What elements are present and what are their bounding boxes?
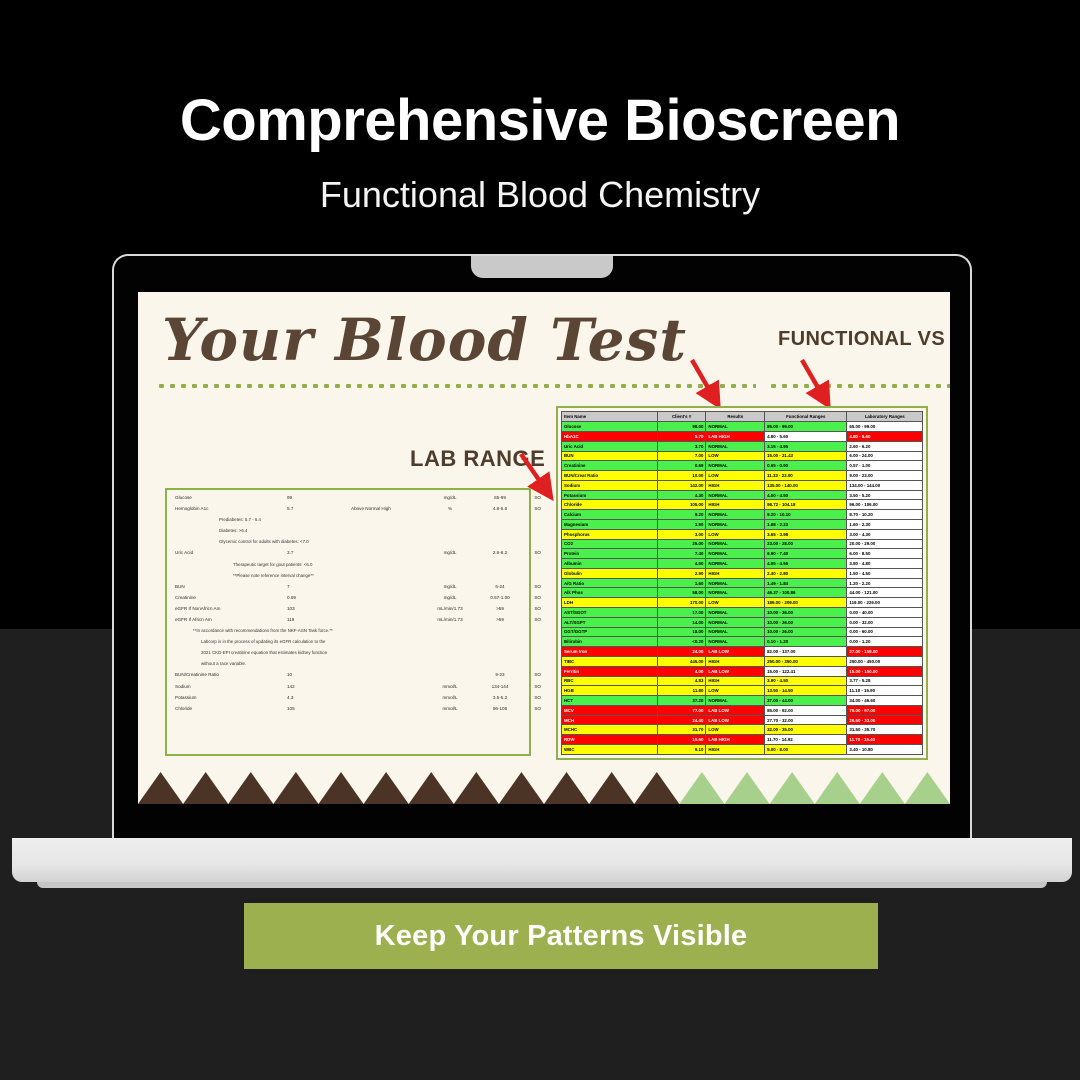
- table-cell: NORMAL: [706, 510, 765, 520]
- table-cell: 3.15 - 4.95: [765, 441, 847, 451]
- table-cell: 0.00 - 1.20: [847, 637, 923, 647]
- table-header-row: Item NameClient's #ResultsFunctional Ran…: [562, 412, 923, 422]
- report-cell: BUN: [175, 585, 287, 590]
- table-cell: 4.80 - 5.60: [765, 431, 847, 441]
- column-header-c-val: Client's #: [657, 412, 706, 422]
- table-cell: Uric Acid: [562, 441, 658, 451]
- report-row: Hemoglobin A1c5.7Above Normal High%4.8-5…: [175, 507, 521, 512]
- laptop-mockup: Your Blood Test FUNCTIONAL VS LAB RAN LA…: [112, 254, 972, 838]
- table-cell: 17.00: [657, 608, 706, 618]
- report-cell: 134-144: [477, 685, 523, 690]
- report-row: eGFR If NonAfricn Am103mL/min/1.73>59SO: [175, 607, 521, 612]
- table-cell: 445.00: [657, 656, 706, 666]
- table-cell: Protein: [562, 549, 658, 559]
- report-cell: SO: [523, 496, 541, 501]
- table-cell: 0.00 - 40.00: [847, 608, 923, 618]
- table-cell: Potassium: [562, 490, 658, 500]
- table-cell: 0.10 - 1.20: [765, 637, 847, 647]
- table-cell: NORMAL: [706, 520, 765, 530]
- table-cell: 32.00 - 35.00: [765, 725, 847, 735]
- table-cell: 0.00 - 60.00: [847, 627, 923, 637]
- report-cell: SO: [523, 585, 541, 590]
- report-row: Chloride105mmol/L96-106SO: [175, 707, 521, 712]
- table-cell: 7.40: [657, 549, 706, 559]
- report-cell: 0.57-1.00: [477, 596, 523, 601]
- table-cell: Sodium: [562, 480, 658, 490]
- table-row: MCHC31.70LOW32.00 - 35.0031.50 - 35.70: [562, 725, 923, 735]
- table-cell: 18.00: [657, 627, 706, 637]
- table-cell: 98.72 - 104.18: [765, 500, 847, 510]
- table-cell: TIBC: [562, 656, 658, 666]
- report-cell: %: [423, 507, 477, 512]
- table-cell: 3.70: [657, 441, 706, 451]
- table-cell: LOW: [706, 471, 765, 481]
- table-cell: 1.60 - 2.30: [847, 520, 923, 530]
- table-cell: 37.20: [657, 696, 706, 706]
- table-row: HbA1C5.70LAB HIGH4.80 - 5.604.80 - 5.60: [562, 431, 923, 441]
- table-cell: NORMAL: [706, 627, 765, 637]
- report-cell: Sodium: [175, 685, 287, 690]
- table-cell: 11.80: [657, 686, 706, 696]
- table-cell: NORMAL: [706, 422, 765, 432]
- table-cell: HIGH: [706, 500, 765, 510]
- table-cell: Globulin: [562, 568, 658, 578]
- table-row: Albumin4.50NORMAL4.05 - 4.553.80 - 4.80: [562, 559, 923, 569]
- report-cell: mg/dL: [423, 585, 477, 590]
- table-cell: 4.30: [657, 490, 706, 500]
- functional-ranges-table: Item NameClient's #ResultsFunctional Ran…: [561, 411, 923, 755]
- report-cell: 9-23: [477, 673, 523, 678]
- laptop-screen: Your Blood Test FUNCTIONAL VS LAB RAN LA…: [138, 292, 950, 804]
- table-cell: 3.80 - 4.80: [847, 559, 923, 569]
- report-row: Sodium142mmol/L134-144SO: [175, 685, 521, 690]
- report-cell: SO: [523, 607, 541, 612]
- table-cell: RDW: [562, 735, 658, 745]
- table-cell: 3.40 - 10.80: [847, 744, 923, 754]
- report-cell: 105: [287, 707, 351, 712]
- slide-script-title: Your Blood Test: [162, 298, 682, 382]
- table-row: Glucose98.00NORMAL85.00 - 99.0065.00 - 9…: [562, 422, 923, 432]
- table-cell: NORMAL: [706, 490, 765, 500]
- cta-banner[interactable]: Keep Your Patterns Visible: [244, 903, 878, 969]
- report-cell: 99: [287, 496, 351, 501]
- table-row: RDW15.60LAB HIGH11.70 - 14.9211.70 - 15.…: [562, 735, 923, 745]
- report-row: Potassium4.3mmol/L3.5-5.2SO: [175, 696, 521, 701]
- table-row: Sodium142.00HIGH135.00 - 140.00134.00 - …: [562, 480, 923, 490]
- table-row: MCV77.00LAB LOW85.00 - 92.0079.00 - 97.0…: [562, 705, 923, 715]
- table-cell: Alk Phos: [562, 588, 658, 598]
- report-cell: 119: [287, 618, 351, 623]
- table-row: Potassium4.30NORMAL4.00 - 4.503.50 - 5.2…: [562, 490, 923, 500]
- table-cell: 1.50 - 4.50: [847, 568, 923, 578]
- table-cell: 27.00 - 159.00: [847, 647, 923, 657]
- table-cell: A/G Ratio: [562, 578, 658, 588]
- report-row: Glucose99mg/dL65-99SO: [175, 496, 521, 501]
- table-cell: 105.00: [657, 500, 706, 510]
- table-cell: 79.00 - 97.00: [847, 705, 923, 715]
- cta-label: Keep Your Patterns Visible: [375, 920, 748, 953]
- report-note: Glycemic control for adults with diabete…: [175, 540, 521, 544]
- table-cell: LOW: [706, 686, 765, 696]
- table-cell: 2.40 - 2.80: [765, 568, 847, 578]
- table-cell: 142.00: [657, 480, 706, 490]
- table-cell: 3.90 - 4.50: [765, 676, 847, 686]
- table-cell: MCH: [562, 715, 658, 725]
- column-header-c-fr: Functional Ranges: [765, 412, 847, 422]
- report-note: 2021 CKD-EPI creatinine equation that es…: [175, 651, 521, 655]
- table-cell: 170.00: [657, 598, 706, 608]
- functional-ranges-table-panel: Item NameClient's #ResultsFunctional Ran…: [556, 406, 928, 760]
- report-cell: Creatinine: [175, 596, 287, 601]
- table-cell: 3.77 - 5.28: [847, 676, 923, 686]
- page-title: Comprehensive Bioscreen: [0, 92, 1080, 150]
- table-cell: RBC: [562, 676, 658, 686]
- table-cell: 10.00 - 26.00: [765, 627, 847, 637]
- report-cell: mg/dL: [423, 551, 477, 556]
- table-cell: LAB LOW: [706, 715, 765, 725]
- report-cell: 3.5-5.2: [477, 696, 523, 701]
- report-row: Creatinine0.69mg/dL0.57-1.00SO: [175, 596, 521, 601]
- table-cell: 1.90: [657, 520, 706, 530]
- table-cell: LAB HIGH: [706, 735, 765, 745]
- arrow-laboratory-ranges-icon: [798, 356, 838, 410]
- table-cell: 5.00 - 8.00: [765, 744, 847, 754]
- table-cell: 4.50: [657, 559, 706, 569]
- table-row: MCH24.40LAB LOW27.70 - 32.0026.60 - 33.0…: [562, 715, 923, 725]
- table-cell: 96.00 - 106.00: [847, 500, 923, 510]
- table-cell: 23.00 - 28.00: [765, 539, 847, 549]
- table-row: AST/SGOT17.00NORMAL10.00 - 26.000.00 - 4…: [562, 608, 923, 618]
- report-note: without a race variable.: [175, 662, 521, 666]
- table-cell: MCV: [562, 705, 658, 715]
- report-cell: mg/dL: [423, 596, 477, 601]
- report-cell: SO: [523, 696, 541, 701]
- table-row: Bilirubin<0.20NORMAL0.10 - 1.200.00 - 1.…: [562, 637, 923, 647]
- table-cell: NORMAL: [706, 617, 765, 627]
- table-cell: NORMAL: [706, 461, 765, 471]
- table-row: HGB11.80LOW13.50 - 14.5011.10 - 15.90: [562, 686, 923, 696]
- report-cell: mL/min/1.73: [423, 607, 477, 612]
- table-row: Protein7.40NORMAL6.90 - 7.406.00 - 8.50: [562, 549, 923, 559]
- table-cell: 25.00: [657, 539, 706, 549]
- table-cell: 98.00: [657, 422, 706, 432]
- table-cell: HIGH: [706, 568, 765, 578]
- table-cell: NORMAL: [706, 588, 765, 598]
- table-cell: LAB LOW: [706, 647, 765, 657]
- table-cell: 15.00 - 122.41: [765, 666, 847, 676]
- table-cell: Chloride: [562, 500, 658, 510]
- report-cell: 2.6-6.2: [477, 551, 523, 556]
- table-cell: 135.00 - 140.00: [765, 480, 847, 490]
- report-cell: 65-99: [477, 496, 523, 501]
- table-cell: 4.83: [657, 676, 706, 686]
- table-cell: 31.50 - 35.70: [847, 725, 923, 735]
- table-cell: HIGH: [706, 656, 765, 666]
- report-cell: mg/dL: [423, 496, 477, 501]
- table-cell: HbA1C: [562, 431, 658, 441]
- report-cell: Above Normal High: [351, 507, 423, 512]
- table-cell: 0.00 - 32.00: [847, 617, 923, 627]
- report-cell: Chloride: [175, 707, 287, 712]
- table-cell: 9.10: [657, 744, 706, 754]
- table-cell: LAB LOW: [706, 666, 765, 676]
- table-cell: HCT: [562, 696, 658, 706]
- laptop-base: [12, 838, 1072, 882]
- table-cell: 44.00 - 121.00: [847, 588, 923, 598]
- table-cell: NORMAL: [706, 608, 765, 618]
- table-cell: 3.00 - 4.30: [847, 529, 923, 539]
- table-cell: LOW: [706, 725, 765, 735]
- zigzag-decoration: [138, 770, 950, 804]
- table-cell: 20.00 - 29.00: [847, 539, 923, 549]
- report-row: Uric Acid3.7mg/dL2.6-6.2SO: [175, 551, 521, 556]
- report-row: eGFR If Africn Am119mL/min/1.73>59SO: [175, 618, 521, 623]
- table-cell: 1.60: [657, 578, 706, 588]
- table-cell: 24.00: [657, 647, 706, 657]
- table-cell: NORMAL: [706, 578, 765, 588]
- table-cell: 85.00 - 99.00: [765, 422, 847, 432]
- table-cell: 24.40: [657, 715, 706, 725]
- report-cell: SO: [523, 596, 541, 601]
- table-cell: 3.00: [657, 529, 706, 539]
- table-cell: GGT/GGTP: [562, 627, 658, 637]
- table-cell: HGB: [562, 686, 658, 696]
- table-cell: 9.20: [657, 510, 706, 520]
- table-cell: 11.70 - 14.92: [765, 735, 847, 745]
- column-header-c-name: Item Name: [562, 412, 658, 422]
- table-cell: 9.00 - 23.00: [847, 471, 923, 481]
- table-cell: Phosphorus: [562, 529, 658, 539]
- report-cell: SO: [523, 507, 541, 512]
- table-cell: 10.00 - 26.00: [765, 608, 847, 618]
- table-cell: 9.20 - 10.10: [765, 510, 847, 520]
- table-cell: LAB LOW: [706, 705, 765, 715]
- report-cell: 5.7: [287, 507, 351, 512]
- table-cell: 4.00: [657, 666, 706, 676]
- table-cell: <0.20: [657, 637, 706, 647]
- report-cell: eGFR If NonAfricn Am: [175, 607, 287, 612]
- table-cell: 11.33 - 23.00: [765, 471, 847, 481]
- table-cell: 13.50 - 14.50: [765, 686, 847, 696]
- table-cell: 4.80 - 5.60: [847, 431, 923, 441]
- table-row: Uric Acid3.70NORMAL3.15 - 4.952.60 - 6.2…: [562, 441, 923, 451]
- report-note: Labcorp is in the process of updating it…: [175, 640, 521, 644]
- report-cell: 10: [287, 673, 351, 678]
- table-cell: AST/SGOT: [562, 608, 658, 618]
- table-cell: HIGH: [706, 480, 765, 490]
- report-cell: SO: [523, 707, 541, 712]
- table-body: Glucose98.00NORMAL85.00 - 99.0065.00 - 9…: [562, 422, 923, 755]
- report-cell: mmol/L: [423, 707, 477, 712]
- report-cell: 7: [287, 585, 351, 590]
- table-row: Serum Iron24.00LAB LOW82.00 - 137.0027.0…: [562, 647, 923, 657]
- table-row: TIBC445.00HIGH250.00 - 350.00250.00 - 45…: [562, 656, 923, 666]
- table-cell: 250.00 - 450.00: [847, 656, 923, 666]
- arrow-functional-ranges-icon: [688, 356, 728, 410]
- report-cell: Uric Acid: [175, 551, 287, 556]
- table-cell: HIGH: [706, 744, 765, 754]
- table-cell: 14.00: [657, 617, 706, 627]
- table-row: HCT37.20NORMAL37.00 - 44.0034.00 - 46.60: [562, 696, 923, 706]
- report-note: Therapeutic target for gout patients: <6…: [175, 563, 521, 567]
- table-cell: 0.69: [657, 461, 706, 471]
- table-cell: Albumin: [562, 559, 658, 569]
- table-cell: 250.00 - 350.00: [765, 656, 847, 666]
- table-cell: 3.50 - 5.20: [847, 490, 923, 500]
- report-note: Diabetes: >6.4: [175, 529, 521, 533]
- table-cell: Calcium: [562, 510, 658, 520]
- report-cell: eGFR If Africn Am: [175, 618, 287, 623]
- dotted-divider-right: [768, 384, 950, 388]
- table-cell: Bilirubin: [562, 637, 658, 647]
- report-row: BUN7mg/dL6-24SO: [175, 585, 521, 590]
- report-cell: 6-24: [477, 585, 523, 590]
- table-cell: NORMAL: [706, 696, 765, 706]
- table-cell: 85.00 - 92.00: [765, 705, 847, 715]
- table-cell: 5.70: [657, 431, 706, 441]
- report-cell: SO: [523, 551, 541, 556]
- table-cell: 4.00 - 4.50: [765, 490, 847, 500]
- table-cell: 1.49 - 1.84: [765, 578, 847, 588]
- page-subtitle: Functional Blood Chemistry: [0, 174, 1080, 216]
- table-cell: 119.00 - 226.00: [847, 598, 923, 608]
- report-cell: 4.8-5.6: [477, 507, 523, 512]
- table-cell: ALT/SGPT: [562, 617, 658, 627]
- table-cell: NORMAL: [706, 441, 765, 451]
- table-cell: 1.20 - 2.20: [847, 578, 923, 588]
- table-cell: 10.00: [657, 471, 706, 481]
- report-cell: Hemoglobin A1c: [175, 507, 287, 512]
- table-cell: Ferritin: [562, 666, 658, 676]
- column-header-c-res: Results: [706, 412, 765, 422]
- table-row: Creatinine0.69NORMAL0.65 - 0.900.57 - 1.…: [562, 461, 923, 471]
- table-cell: 7.00: [657, 451, 706, 461]
- dotted-divider-left: [156, 384, 756, 388]
- table-cell: WBC: [562, 744, 658, 754]
- table-cell: CO2: [562, 539, 658, 549]
- table-cell: Glucose: [562, 422, 658, 432]
- table-cell: 15.60: [657, 735, 706, 745]
- table-cell: NORMAL: [706, 549, 765, 559]
- table-cell: Magnesium: [562, 520, 658, 530]
- table-row: BUN7.00LOW15.00 - 21.436.00 - 24.00: [562, 451, 923, 461]
- table-cell: LOW: [706, 529, 765, 539]
- table-cell: 34.00 - 46.60: [847, 696, 923, 706]
- report-cell: SO: [523, 685, 541, 690]
- report-cell: 142: [287, 685, 351, 690]
- table-row: Alk Phos58.00NORMAL46.37 - 100.8644.00 -…: [562, 588, 923, 598]
- table-row: BUN/Creat Ratio10.00LOW11.33 - 23.009.00…: [562, 471, 923, 481]
- report-cell: 0.69: [287, 596, 351, 601]
- table-cell: 27.70 - 32.00: [765, 715, 847, 725]
- report-cell: 103: [287, 607, 351, 612]
- table-cell: MCHC: [562, 725, 658, 735]
- table-cell: 2.90: [657, 568, 706, 578]
- table-row: Calcium9.20NORMAL9.20 - 10.108.70 - 10.2…: [562, 510, 923, 520]
- table-row: LDH170.00LOW189.00 - 209.00119.00 - 226.…: [562, 598, 923, 608]
- laptop-notch: [471, 256, 613, 278]
- table-cell: BUN/Creat Ratio: [562, 471, 658, 481]
- report-cell: mL/min/1.73: [423, 618, 477, 623]
- table-row: Magnesium1.90NORMAL1.88 - 2.231.60 - 2.3…: [562, 520, 923, 530]
- table-row: Globulin2.90HIGH2.40 - 2.801.50 - 4.50: [562, 568, 923, 578]
- report-cell: mmol/L: [423, 696, 477, 701]
- table-cell: 6.90 - 7.40: [765, 549, 847, 559]
- table-row: Ferritin4.00LAB LOW15.00 - 122.4115.00 -…: [562, 666, 923, 676]
- header: Comprehensive Bioscreen Functional Blood…: [0, 92, 1080, 216]
- table-cell: LOW: [706, 598, 765, 608]
- table-cell: 0.57 - 1.00: [847, 461, 923, 471]
- report-cell: 3.7: [287, 551, 351, 556]
- table-cell: 11.10 - 15.90: [847, 686, 923, 696]
- table-cell: NORMAL: [706, 559, 765, 569]
- table-cell: 11.70 - 15.40: [847, 735, 923, 745]
- table-row: WBC9.10HIGH5.00 - 8.003.40 - 10.80: [562, 744, 923, 754]
- table-row: GGT/GGTP18.00NORMAL10.00 - 26.000.00 - 6…: [562, 627, 923, 637]
- lab-report-panel: Glucose99mg/dL65-99SOHemoglobin A1c5.7Ab…: [165, 488, 531, 756]
- table-cell: NORMAL: [706, 637, 765, 647]
- report-note: **In accordance with recommendations fro…: [175, 629, 521, 633]
- table-cell: NORMAL: [706, 539, 765, 549]
- table-cell: Creatinine: [562, 461, 658, 471]
- report-cell: SO: [523, 673, 541, 678]
- laptop-foot: [37, 882, 1047, 888]
- table-row: ALT/SGPT14.00NORMAL10.00 - 26.000.00 - 3…: [562, 617, 923, 627]
- table-cell: 37.00 - 44.00: [765, 696, 847, 706]
- table-row: A/G Ratio1.60NORMAL1.49 - 1.841.20 - 2.2…: [562, 578, 923, 588]
- table-row: Phosphorus3.00LOW3.65 - 3.983.00 - 4.30: [562, 529, 923, 539]
- table-cell: 8.70 - 10.20: [847, 510, 923, 520]
- table-cell: LAB HIGH: [706, 431, 765, 441]
- table-cell: 0.65 - 0.90: [765, 461, 847, 471]
- table-cell: 82.00 - 137.00: [765, 647, 847, 657]
- table-cell: 31.70: [657, 725, 706, 735]
- report-note: Prediabetes: 5.7 - 6.4: [175, 518, 521, 522]
- table-cell: LOW: [706, 451, 765, 461]
- table-cell: BUN: [562, 451, 658, 461]
- table-cell: 3.65 - 3.98: [765, 529, 847, 539]
- table-cell: 26.60 - 33.00: [847, 715, 923, 725]
- report-cell: 96-106: [477, 707, 523, 712]
- table-cell: LDH: [562, 598, 658, 608]
- report-cell: >59: [477, 618, 523, 623]
- table-cell: 15.00 - 21.43: [765, 451, 847, 461]
- report-cell: BUN/Creatinine Ratio: [175, 673, 287, 678]
- report-cell: Glucose: [175, 496, 287, 501]
- table-cell: 10.00 - 26.00: [765, 617, 847, 627]
- functional-vs-lab-heading: FUNCTIONAL VS LAB RAN: [778, 328, 950, 351]
- table-cell: 189.00 - 209.00: [765, 598, 847, 608]
- table-cell: 6.00 - 24.00: [847, 451, 923, 461]
- report-cell: SO: [523, 618, 541, 623]
- table-cell: 46.37 - 100.86: [765, 588, 847, 598]
- report-cell: mmol/L: [423, 685, 477, 690]
- table-cell: 15.00 - 150.00: [847, 666, 923, 676]
- table-cell: Serum Iron: [562, 647, 658, 657]
- table-cell: 1.88 - 2.23: [765, 520, 847, 530]
- report-cell: 4.3: [287, 696, 351, 701]
- table-cell: 2.60 - 6.20: [847, 441, 923, 451]
- report-note: **Please note reference interval change*…: [175, 574, 521, 578]
- table-cell: 65.00 - 99.00: [847, 422, 923, 432]
- table-row: CO225.00NORMAL23.00 - 28.0020.00 - 29.00: [562, 539, 923, 549]
- table-cell: 77.00: [657, 705, 706, 715]
- table-cell: 4.05 - 4.55: [765, 559, 847, 569]
- column-header-c-lr: Laboratory Ranges: [847, 412, 923, 422]
- table-row: RBC4.83HIGH3.90 - 4.503.77 - 5.28: [562, 676, 923, 686]
- table-cell: 6.00 - 8.50: [847, 549, 923, 559]
- table-cell: HIGH: [706, 676, 765, 686]
